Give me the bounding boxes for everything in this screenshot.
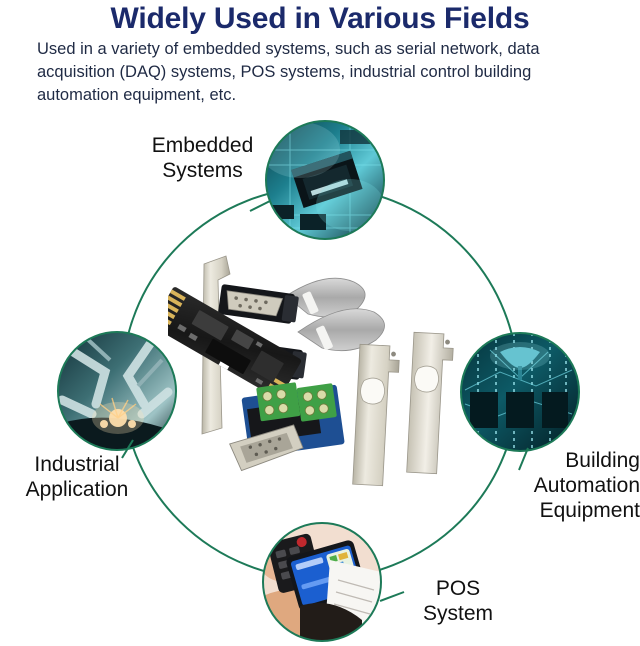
product-image bbox=[168, 248, 478, 510]
bubble-building-automation bbox=[461, 333, 579, 451]
label-line: Building bbox=[500, 448, 640, 473]
label-line: Systems bbox=[120, 158, 285, 183]
bubble-pos-system bbox=[263, 523, 381, 641]
label-line: Embedded bbox=[120, 133, 285, 158]
label-line: Automation bbox=[500, 473, 640, 498]
label-line: POS bbox=[398, 576, 518, 601]
label-line: System bbox=[398, 601, 518, 626]
label-embedded-systems: Embedded Systems bbox=[120, 133, 285, 183]
label-pos-system: POS System bbox=[398, 576, 518, 626]
label-building-automation-equipment: Building Automation Equipment bbox=[500, 448, 640, 523]
part-bracket-a bbox=[353, 344, 400, 486]
part-ribbon-cables bbox=[286, 278, 385, 350]
label-line: Industrial bbox=[2, 452, 152, 477]
label-industrial-application: Industrial Application bbox=[2, 452, 152, 502]
label-line: Equipment bbox=[500, 498, 640, 523]
part-terminal-block-adapter bbox=[222, 377, 346, 472]
infographic-canvas: Widely Used in Various Fields Used in a … bbox=[0, 0, 640, 646]
label-line: Application bbox=[2, 477, 152, 502]
bubble-industrial-application bbox=[58, 332, 176, 450]
part-bracket-b bbox=[407, 332, 454, 474]
